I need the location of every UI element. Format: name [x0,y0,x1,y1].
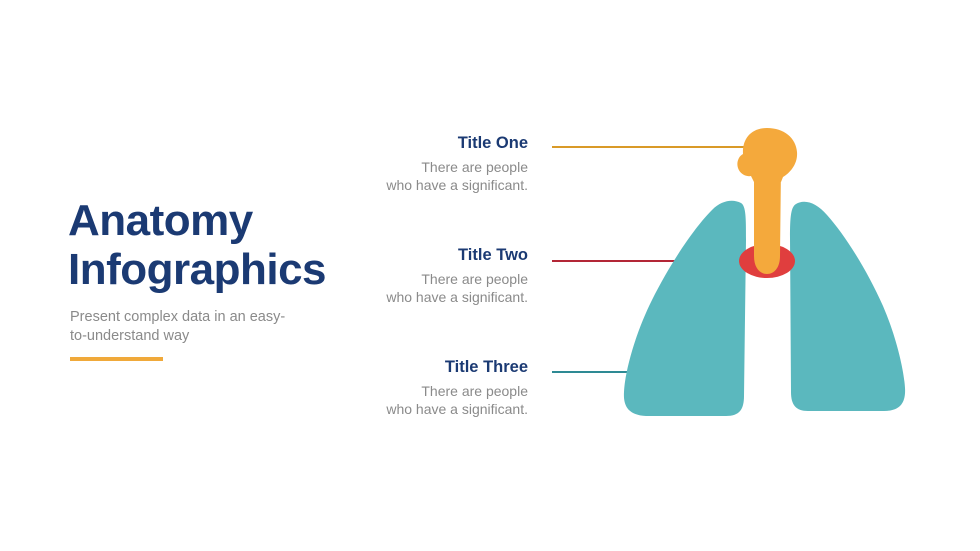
larynx-shape [737,128,797,182]
callout-two: Title Two There are people who have a si… [288,246,528,307]
callout-one: Title One There are people who have a si… [288,134,528,195]
slide-canvas: Anatomy Infographics Present complex dat… [0,0,980,551]
trachea-shape [754,167,781,274]
callout-one-body: There are people who have a significant. [288,158,528,195]
callout-two-body: There are people who have a significant. [288,270,528,307]
callout-two-title: Title Two [288,246,528,266]
callout-three-body: There are people who have a significant. [288,382,528,419]
right-lung-shape [790,202,905,411]
accent-bar [70,357,163,361]
left-lung-shape [624,201,746,416]
lungs-trachea-illustration [600,120,940,430]
callout-one-title: Title One [288,134,528,154]
callout-three: Title Three There are people who have a … [288,358,528,419]
callout-three-title: Title Three [288,358,528,378]
page-subtitle: Present complex data in an easy- to-unde… [70,308,315,347]
